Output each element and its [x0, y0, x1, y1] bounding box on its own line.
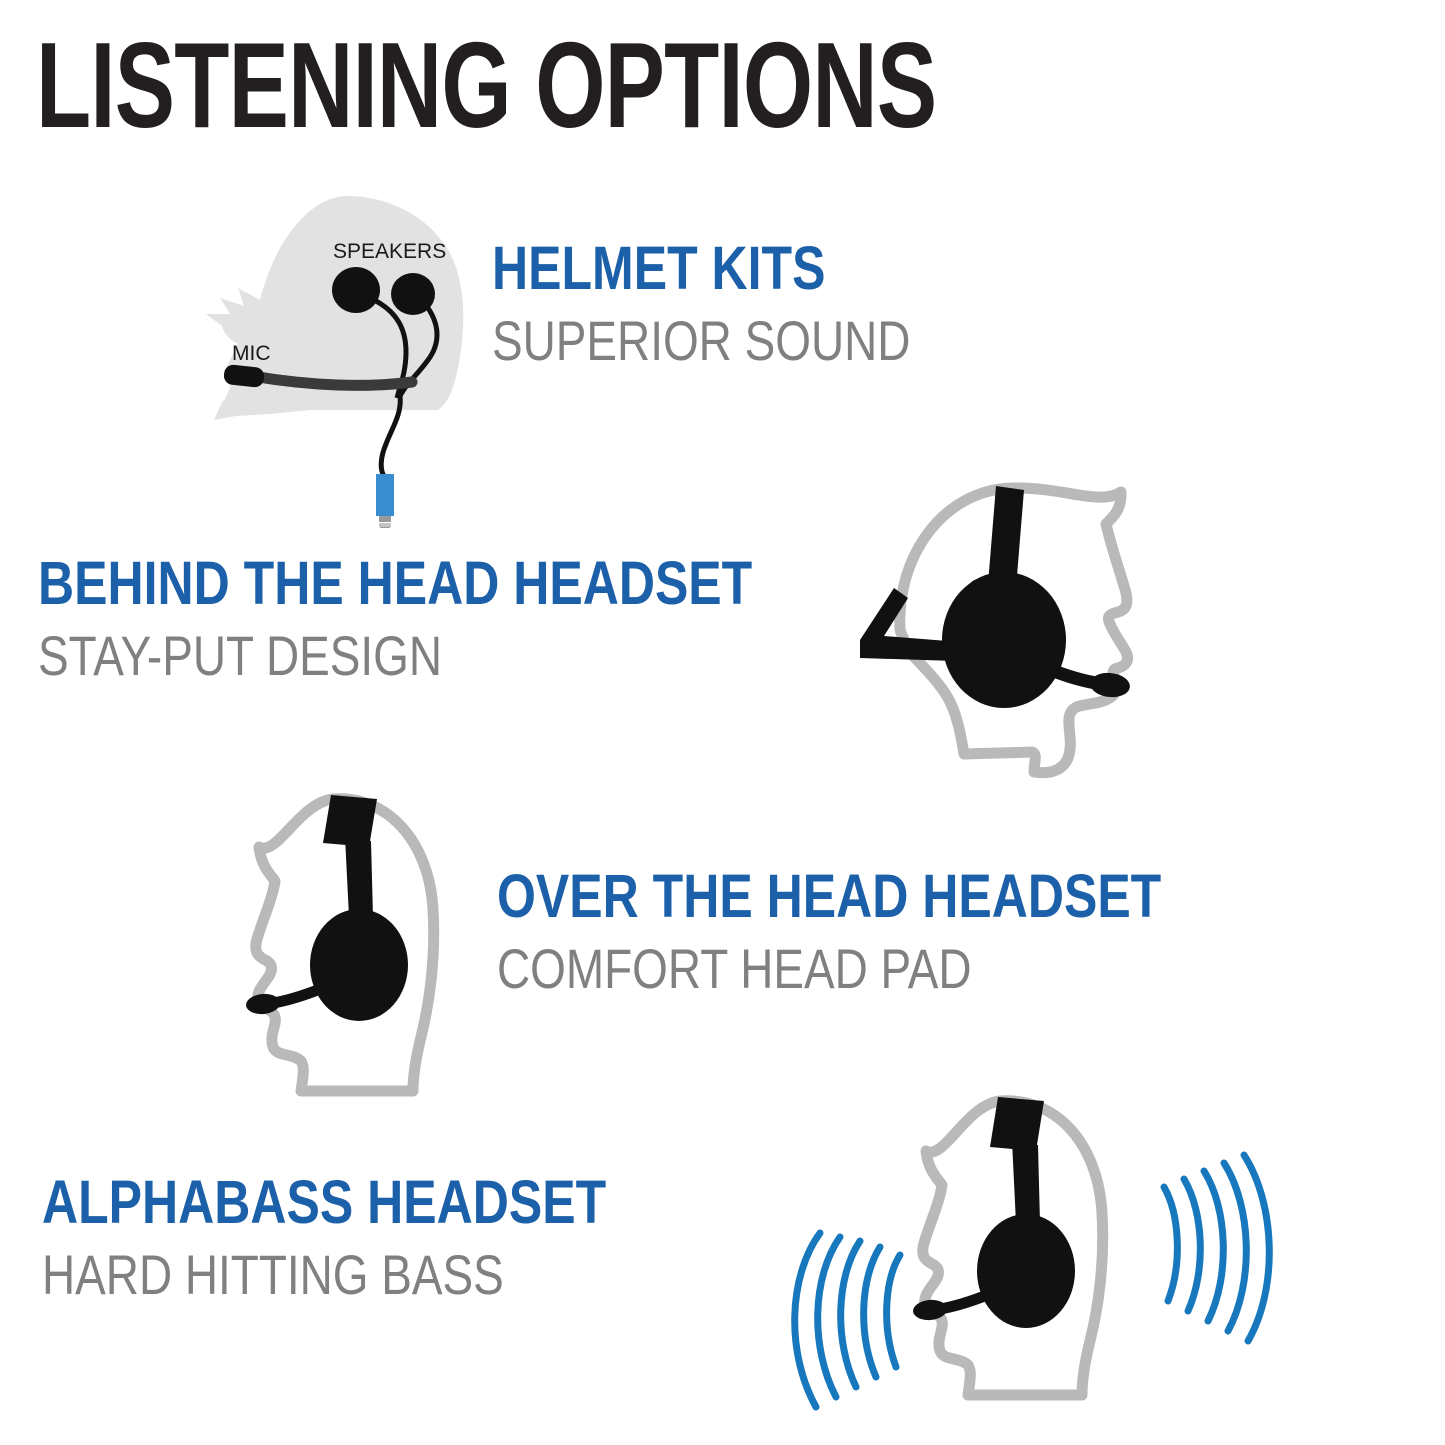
infographic-page: LISTENING OPTIONS SPEAKERS MIC — [0, 0, 1445, 1445]
soundwave-group-left — [795, 1233, 900, 1407]
helmet-kits-subline: SUPERIOR SOUND — [492, 313, 910, 369]
over-the-head-headline: OVER THE HEAD HEADSET — [497, 866, 1161, 927]
behind-the-head-text-block: BEHIND THE HEAD HEADSET STAY-PUT DESIGN — [38, 553, 909, 684]
behind-the-head-headset-icon — [838, 462, 1188, 792]
alphabass-text-block: ALPHABASS HEADSET HARD HITTING BASS — [42, 1172, 730, 1303]
ear-cup-yoke-left — [968, 579, 990, 601]
ear-cup-yoke-right — [1019, 582, 1041, 604]
alphabass-headline: ALPHABASS HEADSET — [42, 1172, 606, 1233]
ear-cup — [310, 909, 408, 1021]
jack-plug-tip-2 — [379, 523, 391, 527]
alphabass-headset-icon — [760, 1075, 1300, 1445]
alphabass-subline: HARD HITTING BASS — [42, 1247, 606, 1303]
headband-arm — [345, 837, 373, 917]
over-the-head-headset-icon — [215, 785, 515, 1105]
behind-the-head-headline: BEHIND THE HEAD HEADSET — [38, 553, 752, 614]
over-the-head-subline: COMFORT HEAD PAD — [497, 941, 1161, 997]
mic-capsule — [1089, 671, 1131, 699]
behind-the-head-subline: STAY-PUT DESIGN — [38, 628, 752, 684]
headband-arm — [1012, 1141, 1040, 1223]
helmet-kits-text-block: HELMET KITS SUPERIOR SOUND — [492, 238, 1002, 369]
speaker-disc-front — [332, 267, 380, 313]
ear-cup — [942, 572, 1066, 708]
jack-plug-tip-1 — [379, 516, 391, 522]
helmet-kits-headline: HELMET KITS — [492, 238, 910, 299]
soundwave-group-right — [1164, 1155, 1269, 1341]
jack-plug-tip-3 — [380, 527, 390, 528]
jack-plug-body — [376, 474, 394, 516]
over-the-head-text-block: OVER THE HEAD HEADSET COMFORT HEAD PAD — [497, 866, 1307, 997]
ear-cup — [977, 1214, 1075, 1328]
page-title: LISTENING OPTIONS — [36, 24, 936, 146]
helmet-kit-icon: SPEAKERS MIC — [200, 188, 500, 528]
speakers-label: SPEAKERS — [333, 240, 446, 263]
mic-label: MIC — [232, 342, 271, 365]
